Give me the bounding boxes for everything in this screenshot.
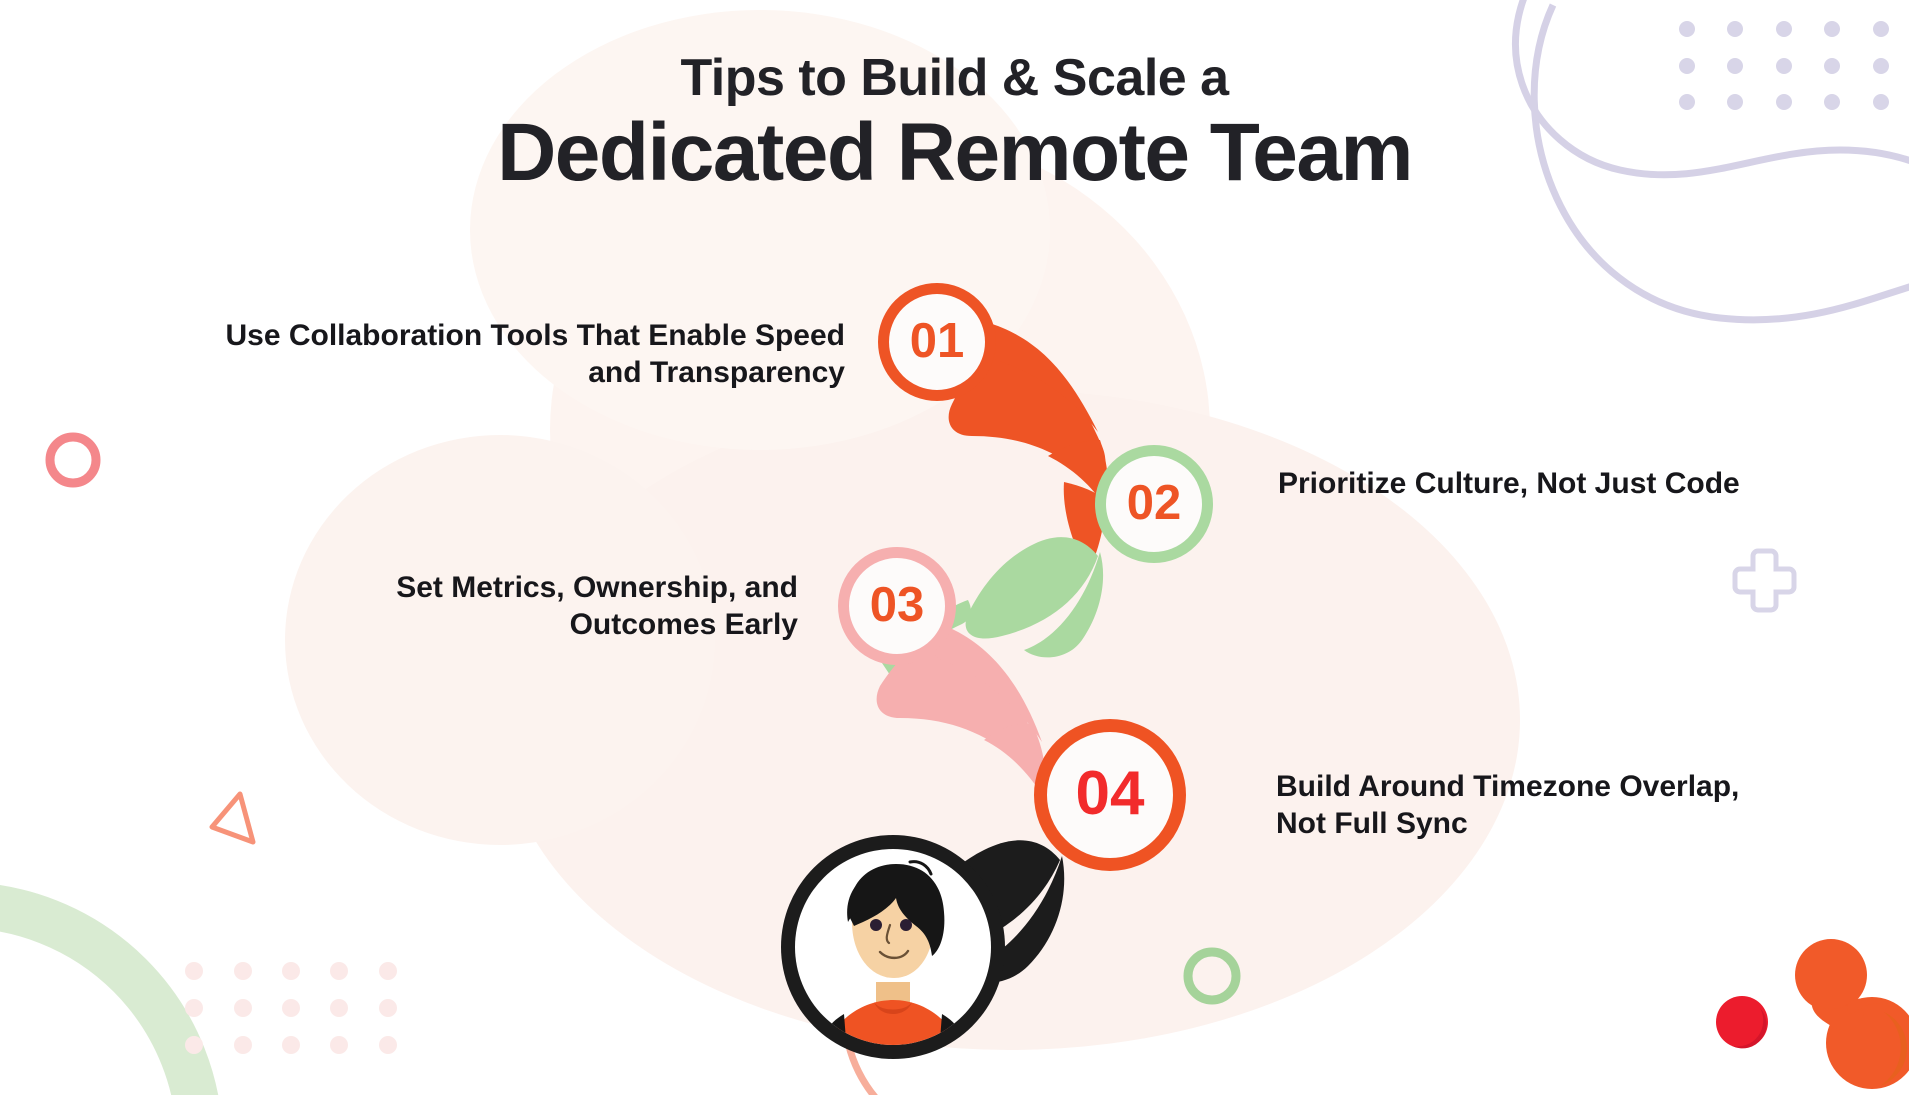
title-line-1: Tips to Build & Scale a: [0, 52, 1909, 104]
step-number-04: 04: [1076, 763, 1145, 825]
infographic-canvas: Tips to Build & Scale a Dedicated Remote…: [0, 0, 1909, 1095]
avatar-eye-right: [900, 919, 912, 931]
step-number-02: 02: [1127, 479, 1182, 528]
step-badge-03[interactable]: 03: [838, 547, 956, 665]
step-label-01: Use Collaboration Tools That Enable Spee…: [205, 318, 845, 391]
avatar: [768, 822, 1018, 1072]
step-number-01: 01: [910, 317, 965, 366]
step-label-04: Build Around Timezone Overlap, Not Full …: [1276, 769, 1796, 842]
step-badge-02[interactable]: 02: [1095, 445, 1213, 563]
step-label-02: Prioritize Culture, Not Just Code: [1278, 466, 1898, 503]
step-number-03: 03: [870, 581, 925, 630]
avatar-eye-left: [870, 919, 882, 931]
title-line-2: Dedicated Remote Team: [0, 110, 1909, 196]
step-badge-01[interactable]: 01: [878, 283, 996, 401]
page-title: Tips to Build & Scale a Dedicated Remote…: [0, 52, 1909, 196]
step-label-03: Set Metrics, Ownership, and Outcomes Ear…: [268, 570, 798, 643]
step-badge-04[interactable]: 04: [1034, 719, 1186, 871]
